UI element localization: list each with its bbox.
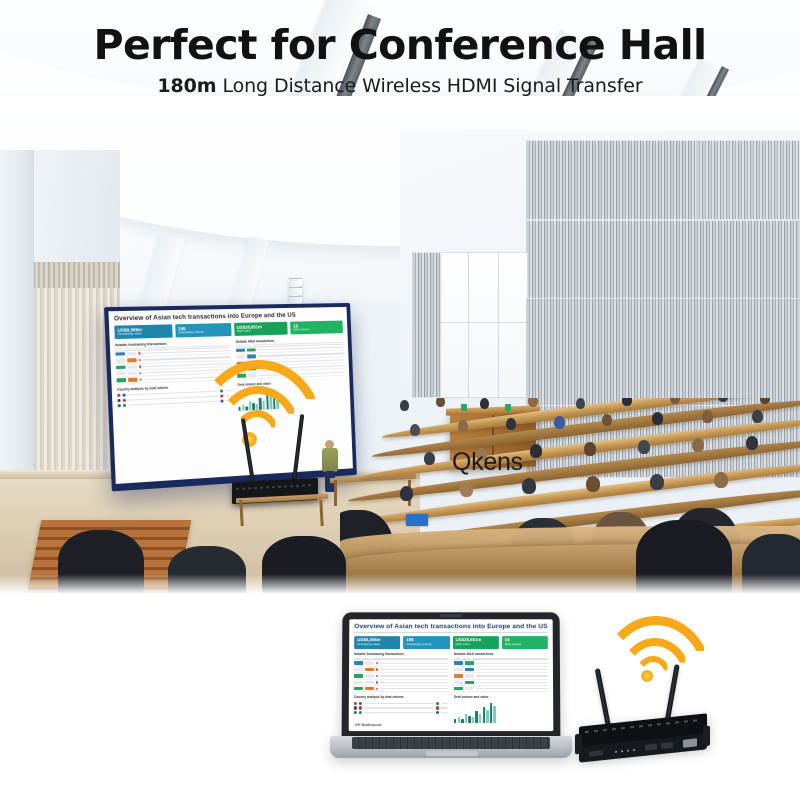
product-band: Overview of Asian tech transactions into… (0, 596, 800, 800)
audience-person (410, 424, 420, 436)
kpi-row: US$9,306m fundraising value 195 fundrais… (114, 321, 343, 340)
slide-content: Overview of Asian tech transactions into… (108, 307, 353, 484)
port (589, 750, 603, 756)
headline-block: Perfect for Conference Hall 180m Long Di… (0, 24, 800, 97)
kpi-label: M&A volume (505, 643, 545, 646)
audience-person (554, 416, 565, 429)
audience-person (424, 452, 435, 465)
ceiling-beam (230, 236, 269, 311)
laptop-lid: Overview of Asian tech transactions into… (342, 612, 561, 740)
port (645, 744, 657, 751)
wifi-signal-icon (599, 616, 699, 678)
acoustic-panel (412, 252, 442, 398)
router-foot (575, 734, 582, 755)
audience-person (460, 482, 473, 497)
laptop-trackpad[interactable] (426, 751, 478, 756)
audience-person (702, 410, 713, 423)
photo-bottom-fade (0, 574, 800, 596)
ma-column: Notable M&A transactions Deal volume and… (454, 652, 548, 723)
audience-person (586, 476, 600, 492)
acoustic-panel (526, 140, 696, 220)
screen-surface: Overview of Asian tech transactions into… (108, 307, 353, 484)
audience-person (480, 398, 489, 409)
audience-person (584, 442, 596, 456)
laptop-keyboard[interactable] (352, 737, 550, 749)
acoustic-panel (440, 252, 528, 398)
audience-person (436, 398, 445, 407)
audience-person (576, 398, 585, 409)
back-wall (400, 130, 800, 430)
audience-person (400, 486, 413, 501)
port (683, 738, 697, 747)
router-foot (703, 726, 710, 747)
bar-chart (238, 384, 346, 410)
laptop-screen: Overview of Asian tech transactions into… (349, 619, 554, 731)
audience-person (506, 418, 516, 430)
bar-chart (454, 701, 548, 723)
fundraising-column: Notable fundraising transactions Country… (115, 340, 233, 417)
audience-person (638, 440, 650, 454)
slide-columns: Notable fundraising transactions Country… (115, 337, 346, 417)
audience-person (458, 420, 468, 432)
kpi-label: M&A volume (293, 328, 340, 333)
audience-person (714, 472, 728, 488)
kpi-card: US$9,306m fundraising value (354, 636, 400, 649)
audience-laptop-icon (406, 514, 428, 526)
watermark: Qkens (452, 448, 523, 477)
country-row (354, 710, 448, 715)
ma-column: Notable M&A transactions Deal volume and… (236, 337, 346, 411)
table-row (454, 686, 548, 692)
slide-content: Overview of Asian tech transactions into… (349, 619, 554, 731)
laptop-icon: Overview of Asian tech transactions into… (330, 612, 572, 772)
audience-person (652, 412, 663, 425)
audience-person (400, 400, 409, 411)
audience-person (528, 398, 538, 407)
kpi-label: fundraising value (118, 332, 170, 337)
slide-columns: Notable fundraising transactions Country… (354, 652, 549, 723)
page-title: Perfect for Conference Hall (0, 24, 800, 67)
promo-banner: Overview of Asian tech transactions into… (0, 0, 800, 800)
section-title: Deal volume and value (454, 695, 548, 699)
table-row (354, 686, 448, 692)
section-title: Country analysis by deal volume (354, 695, 448, 699)
audience-person (602, 414, 612, 426)
kpi-label: M&A value (455, 643, 495, 646)
kpi-label: fundraising volume (178, 330, 228, 335)
port (661, 742, 673, 749)
audience-person (650, 474, 664, 490)
acoustic-panel (696, 140, 800, 220)
kpi-label: fundraising volume (406, 643, 446, 646)
wireless-hdmi-transmitter-icon (575, 616, 775, 776)
audience-person (718, 398, 728, 402)
slide-footer-brand: GP Bullhound (355, 722, 382, 727)
audience-person (752, 410, 763, 423)
webcam-notch-icon (440, 614, 462, 617)
kpi-card: US$9,306m fundraising value (114, 324, 172, 339)
kpi-card: 15 M&A volume (502, 636, 548, 649)
kpi-label: fundraising value (357, 643, 397, 646)
kpi-row: US$9,306m fundraising value 195 fundrais… (354, 636, 548, 649)
projection-screen: Overview of Asian tech transactions into… (104, 303, 357, 492)
audience-person (746, 436, 758, 450)
subtitle-text: Long Distance Wireless HDMI Signal Trans… (222, 75, 642, 97)
kpi-card: US$28,651m M&A value (452, 636, 498, 649)
kpi-card: US$28,651m M&A value (234, 322, 288, 336)
audience-person (622, 398, 632, 406)
section-title: Notable fundraising transactions (354, 652, 448, 656)
slide-title: Overview of Asian tech transactions into… (354, 623, 547, 630)
kpi-label: M&A value (237, 329, 285, 334)
curtain-header (28, 262, 120, 288)
subtitle-distance: 180m (157, 75, 216, 97)
kpi-card: 195 fundraising volume (175, 323, 231, 338)
fundraising-column: Notable fundraising transactions Country… (354, 652, 448, 723)
section-title: Notable M&A transactions (454, 652, 548, 656)
kpi-card: 195 fundraising volume (403, 636, 449, 649)
kpi-card: 15 M&A volume (290, 321, 343, 335)
page-subtitle: 180m Long Distance Wireless HDMI Signal … (0, 75, 800, 97)
audience-person (530, 444, 542, 458)
audience-person (692, 438, 704, 452)
acoustic-panel (526, 298, 800, 406)
ceiling-beam (138, 232, 185, 316)
audience-person (522, 478, 536, 494)
